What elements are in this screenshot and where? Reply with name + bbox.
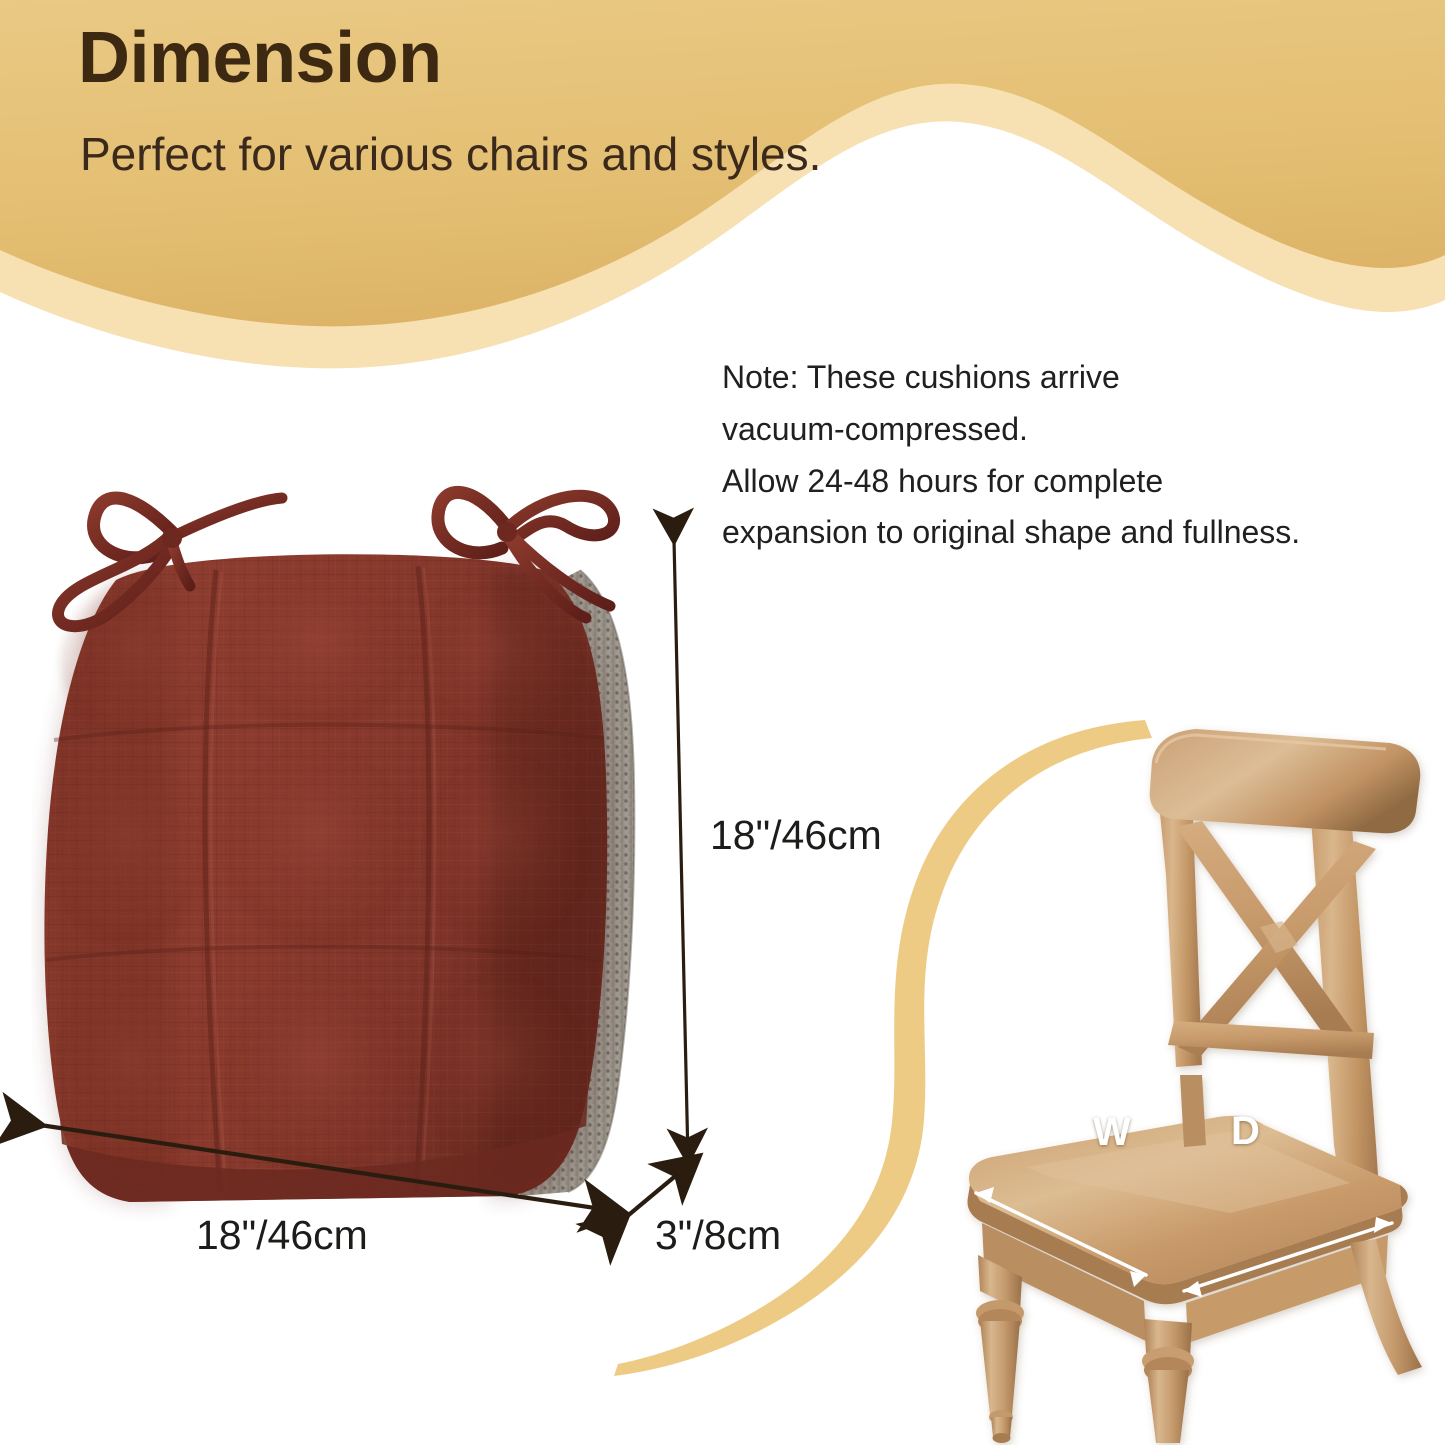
page-title: Dimension (78, 22, 442, 94)
note-line-1: Note: These cushions arrive (722, 352, 1402, 404)
note-line-3: Allow 24-48 hours for complete (722, 456, 1402, 508)
note-line-4: expansion to original shape and fullness… (722, 507, 1402, 559)
width-dimension-label: 18"/46cm (196, 1212, 368, 1259)
shipping-note: Note: These cushions arrive vacuum-compr… (722, 352, 1402, 559)
note-line-2: vacuum-compressed. (722, 404, 1402, 456)
seat-width-letter: W (1093, 1110, 1131, 1155)
chair-leg-front-right (1142, 1319, 1194, 1443)
chair-top-rail (1150, 729, 1421, 833)
chair-leg-rear-left (1180, 1075, 1206, 1147)
chair-leg-front-left (976, 1255, 1024, 1443)
cross-back-chair-image (930, 715, 1445, 1445)
page-subtitle: Perfect for various chairs and styles. (80, 128, 821, 181)
infographic-canvas: Dimension Perfect for various chairs and… (0, 0, 1445, 1445)
seat-depth-letter: D (1231, 1109, 1260, 1154)
